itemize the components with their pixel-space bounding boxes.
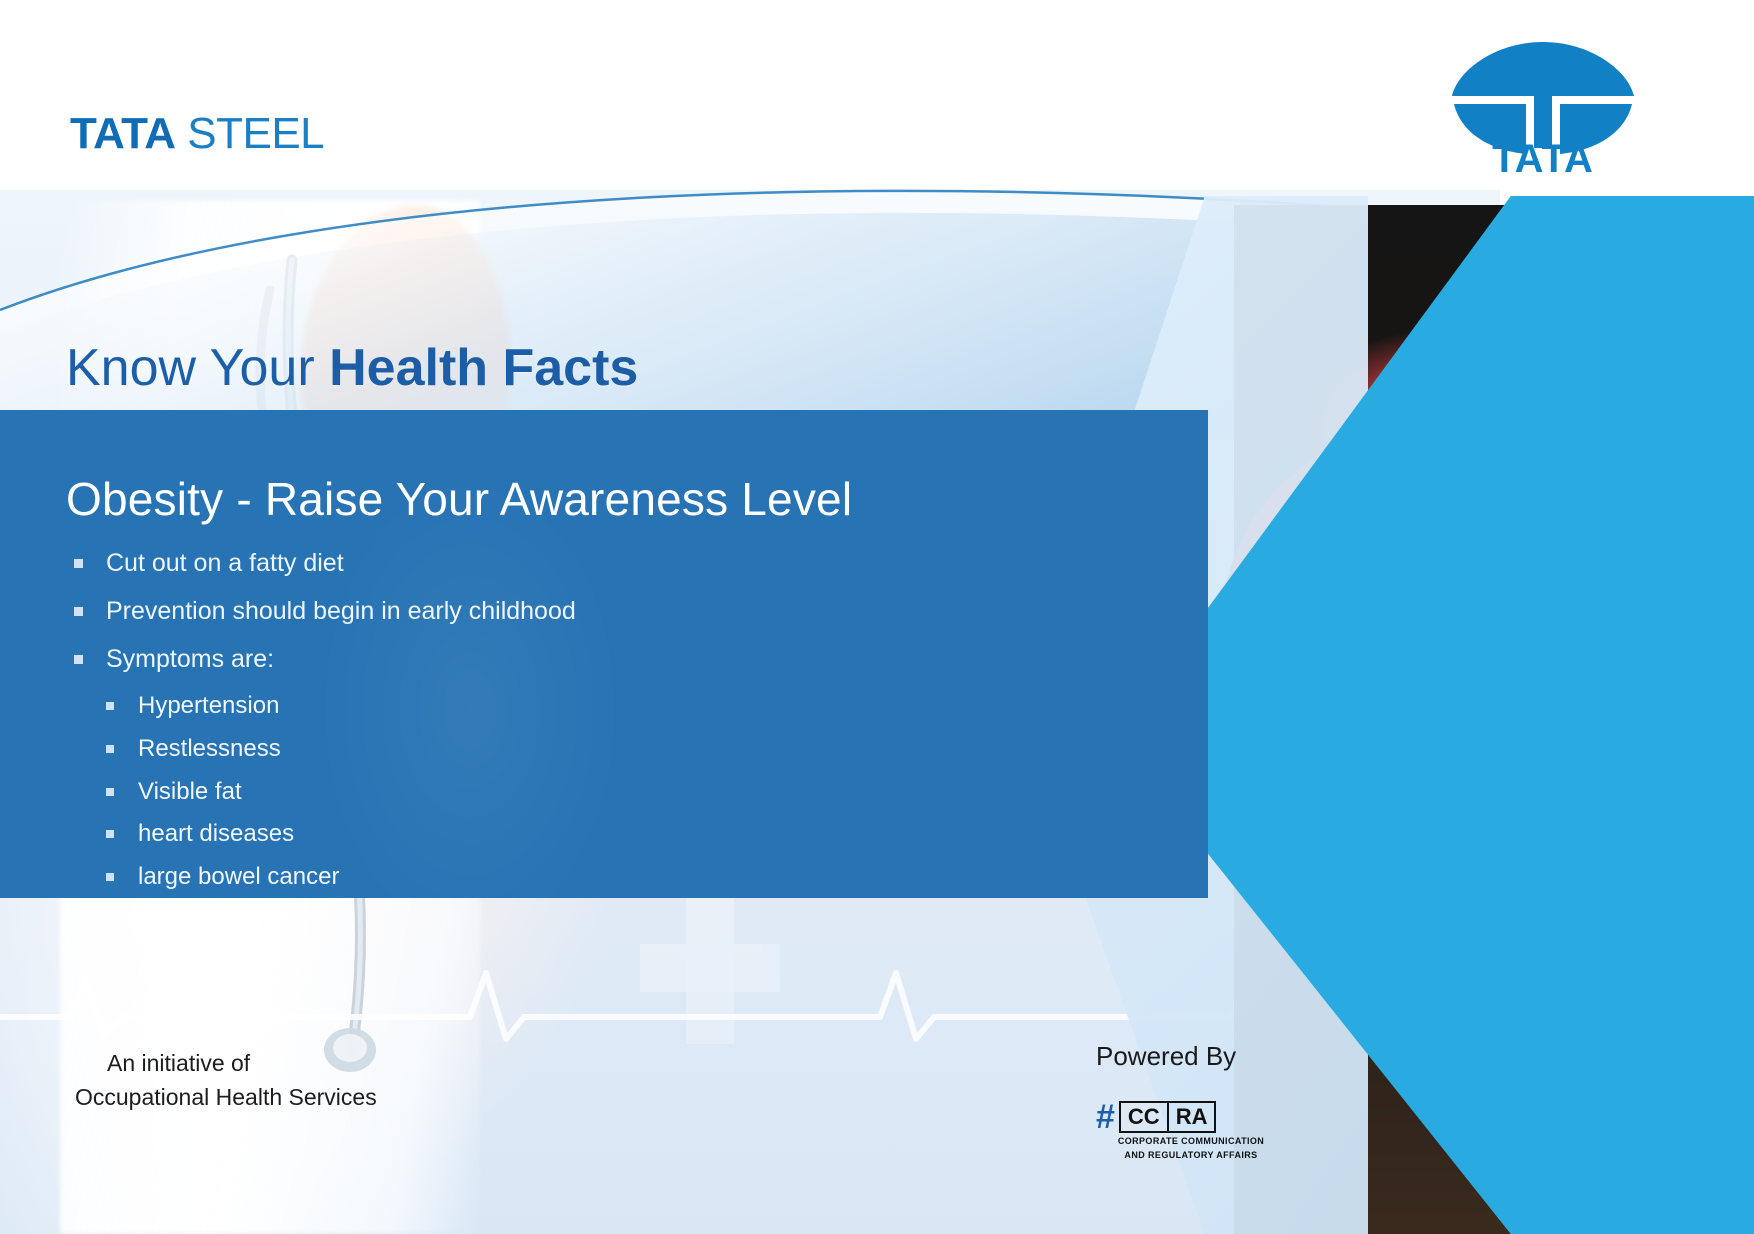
list-item: Symptoms are: xyxy=(70,644,1070,674)
list-item: Cut out on a fatty diet xyxy=(70,548,1070,578)
list-item: Visible fat xyxy=(102,778,1070,807)
poster-canvas: TATA STEEL TATA Know Your Health Facts O… xyxy=(0,0,1754,1234)
bullet-list: Cut out on a fatty diet Prevention shoul… xyxy=(70,548,1070,906)
tata-group-logo: TATA xyxy=(1438,30,1648,175)
ccra-subtitle-line-1: CORPORATE COMMUNICATION xyxy=(1096,1135,1286,1149)
hash-icon: # xyxy=(1096,1100,1115,1134)
page-title-normal: Know Your xyxy=(66,339,329,397)
svg-text:TATA: TATA xyxy=(1492,137,1594,175)
initiative-line-1: An initiative of xyxy=(107,1047,377,1080)
list-item: Hypertension xyxy=(102,692,1070,721)
tata-steel-logo: TATA STEEL xyxy=(70,112,324,156)
tata-steel-logo-primary: TATA xyxy=(70,109,176,158)
list-item: large bowel cancer xyxy=(102,863,1070,892)
initiative-credit: An initiative of Occupational Health Ser… xyxy=(75,1047,377,1114)
page-title: Know Your Health Facts xyxy=(66,341,638,396)
banner-title: Obesity - Raise Your Awareness Level xyxy=(66,472,852,526)
medical-cross-watermark xyxy=(640,894,780,1044)
page-title-bold: Health Facts xyxy=(329,339,638,397)
ccra-subtitle-line-2: AND REGULATORY AFFAIRS xyxy=(1096,1149,1286,1163)
tata-steel-logo-secondary xyxy=(176,109,188,158)
list-item: Restlessness xyxy=(102,735,1070,764)
ccra-logo-boxes: CC RA xyxy=(1119,1101,1217,1133)
powered-by-label: Powered By xyxy=(1096,1041,1236,1072)
initiative-line-2: Occupational Health Services xyxy=(75,1081,377,1114)
list-item: Prevention should begin in early childho… xyxy=(70,596,1070,626)
list-item: heart diseases xyxy=(102,820,1070,849)
ccra-logo: # CC RA xyxy=(1096,1100,1216,1134)
ccra-subtitle: CORPORATE COMMUNICATION AND REGULATORY A… xyxy=(1096,1135,1286,1162)
ccra-box-ra: RA xyxy=(1167,1103,1215,1131)
symptoms-sublist: Hypertension Restlessness Visible fat he… xyxy=(102,692,1070,892)
content-banner: Obesity - Raise Your Awareness Level Cut… xyxy=(0,410,1208,898)
ccra-box-cc: CC xyxy=(1121,1103,1167,1131)
